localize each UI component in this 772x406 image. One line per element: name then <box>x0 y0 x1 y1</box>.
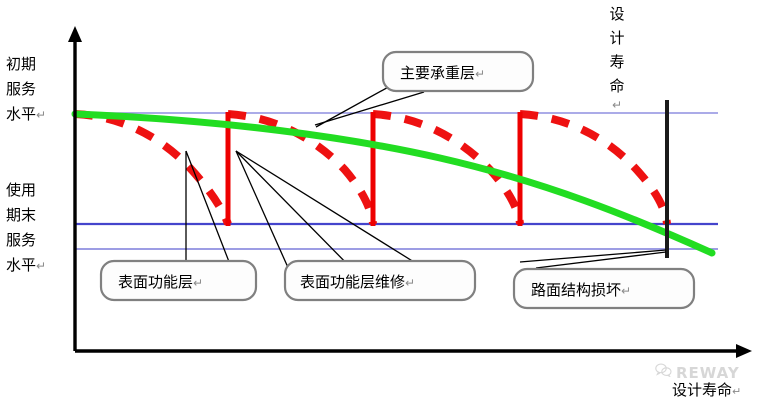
y-axis-label-initial-text: 初期服务水平 <box>6 55 36 123</box>
y-axis-label-initial: 初期服务水平↵ <box>6 52 46 128</box>
structural-performance-curve <box>75 114 712 253</box>
y-axis-label-end-of-life: 使用期末服务水平↵ <box>6 178 46 279</box>
figure-canvas: 初期服务水平↵ 使用期末服务水平↵ 设计寿命↵ 主要承重层↵ 表面功能层↵ 表面… <box>0 0 772 406</box>
x-axis-label-design-life-text: 设计寿命 <box>672 381 732 399</box>
functional-segment-3 <box>373 114 520 224</box>
leader-pavement-damage-2 <box>536 252 666 268</box>
y-axis-label-end-of-life-text: 使用期末服务水平 <box>6 181 36 274</box>
leader-maintenance-1 <box>236 151 290 272</box>
leader-maintenance-3 <box>236 151 430 272</box>
x-axis-arrow-icon <box>736 344 752 358</box>
functional-segment-1 <box>75 114 228 224</box>
paragraph-mark-icon: ↵ <box>604 98 630 112</box>
design-life-vertical-label: 设计寿命↵ <box>604 2 630 112</box>
chart-svg <box>0 0 772 406</box>
design-life-vertical-text: 设计寿命 <box>609 5 624 95</box>
callout-label-surface-function-layer-maintenance: 表面功能层维修↵ <box>300 271 415 292</box>
paragraph-mark-icon: ↵ <box>732 385 741 398</box>
y-axis-arrow-icon <box>68 26 82 42</box>
wechat-icon <box>655 366 672 380</box>
callout-label-pavement-structure-damage: 路面结构损坏↵ <box>531 279 631 300</box>
paragraph-mark-icon: ↵ <box>475 67 485 81</box>
callout-label-pavement-structure-damage-text: 路面结构损坏 <box>531 281 621 299</box>
paragraph-mark-icon: ↵ <box>193 276 203 290</box>
paragraph-mark-icon: ↵ <box>405 276 415 290</box>
leader-pavement-damage <box>520 250 666 262</box>
reference-lines <box>75 113 718 249</box>
callout-label-surface-function-layer: 表面功能层↵ <box>118 271 203 292</box>
paragraph-mark-icon: ↵ <box>36 108 46 122</box>
callout-label-surface-function-layer-maintenance-text: 表面功能层维修 <box>300 273 405 291</box>
callout-label-surface-function-layer-text: 表面功能层 <box>118 273 193 291</box>
callout-label-main-bearing-layer-text: 主要承重层 <box>400 64 475 82</box>
callout-label-main-bearing-layer: 主要承重层↵ <box>400 62 485 83</box>
paragraph-mark-icon: ↵ <box>621 284 631 298</box>
paragraph-mark-icon: ↵ <box>36 259 46 273</box>
x-axis-label-design-life: 设计寿命↵ <box>672 379 741 400</box>
